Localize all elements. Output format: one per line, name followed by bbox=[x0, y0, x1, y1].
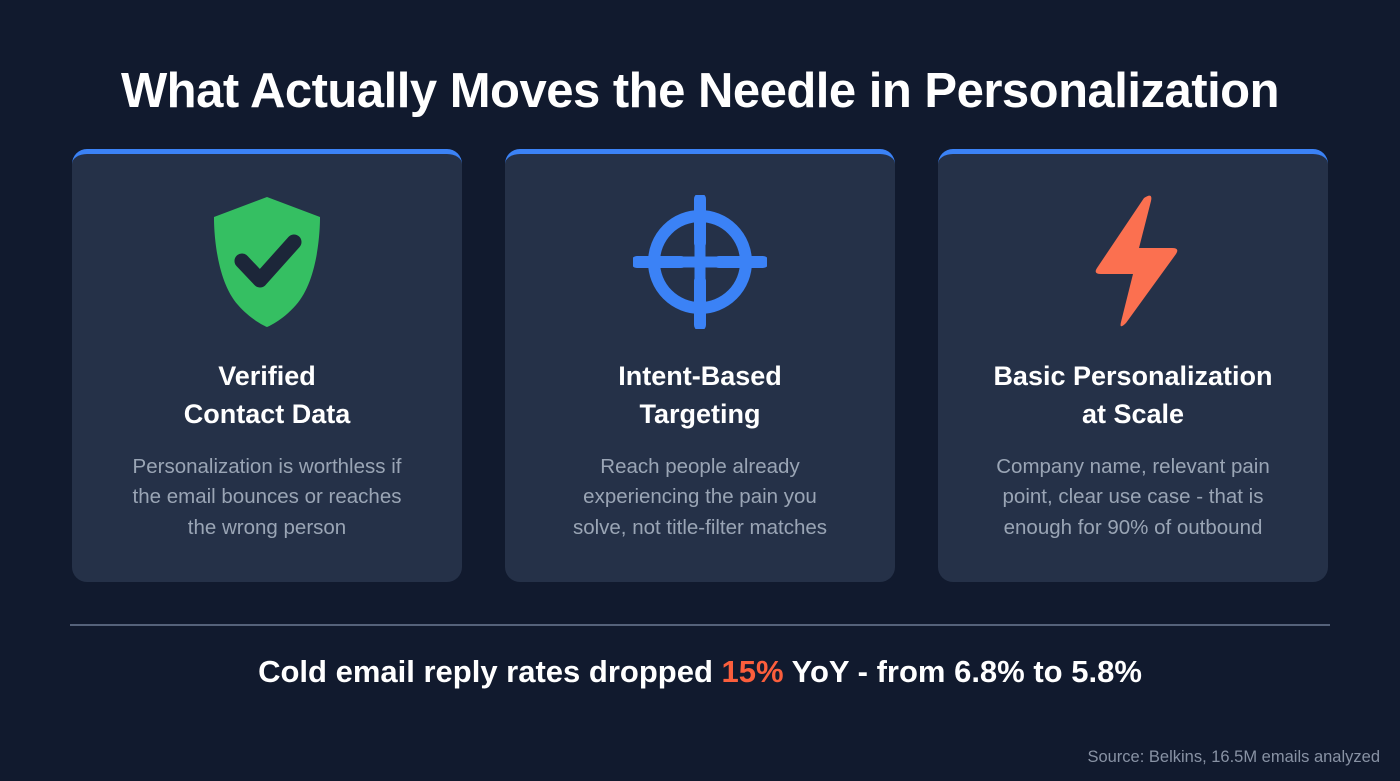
card-description: Company name, relevant pain point, clear… bbox=[996, 452, 1270, 543]
card-basic-personalization-at-scale[interactable]: Basic Personalization at Scale Company n… bbox=[938, 149, 1328, 582]
shield-check-icon bbox=[208, 192, 326, 332]
card-title: Basic Personalization at Scale bbox=[993, 358, 1272, 433]
stat-prefix: Cold email reply rates dropped bbox=[258, 654, 721, 689]
lightning-bolt-icon bbox=[1081, 192, 1185, 332]
card-title: Verified Contact Data bbox=[184, 358, 351, 433]
card-verified-contact-data[interactable]: Verified Contact Data Personalization is… bbox=[72, 149, 462, 582]
cards-row: Verified Contact Data Personalization is… bbox=[0, 149, 1400, 582]
title-section: What Actually Moves the Needle in Person… bbox=[0, 0, 1400, 117]
crosshair-target-icon bbox=[633, 192, 767, 332]
footer-divider bbox=[70, 624, 1330, 626]
stat-highlight-value: 15% bbox=[722, 654, 784, 689]
card-description: Reach people already experiencing the pa… bbox=[573, 452, 827, 543]
footer-stat-line: Cold email reply rates dropped 15% YoY -… bbox=[0, 654, 1400, 690]
page-title: What Actually Moves the Needle in Person… bbox=[0, 66, 1400, 117]
stat-suffix: YoY - from 6.8% to 5.8% bbox=[784, 654, 1142, 689]
source-attribution: Source: Belkins, 16.5M emails analyzed bbox=[1087, 748, 1380, 767]
card-description: Personalization is worthless if the emai… bbox=[133, 452, 402, 543]
card-intent-based-targeting[interactable]: Intent-Based Targeting Reach people alre… bbox=[505, 149, 895, 582]
card-title: Intent-Based Targeting bbox=[618, 358, 782, 433]
infographic-root: What Actually Moves the Needle in Person… bbox=[0, 0, 1400, 781]
